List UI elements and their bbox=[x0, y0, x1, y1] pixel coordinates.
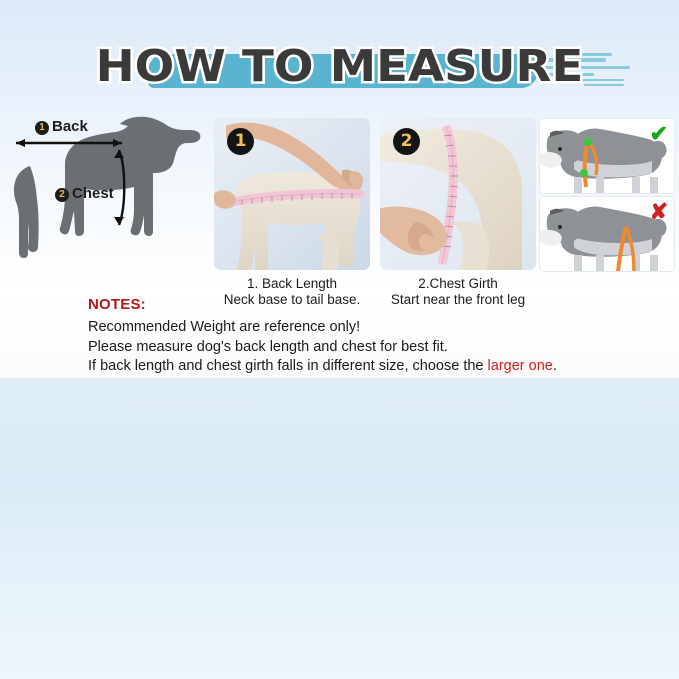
dog-silhouette-diagram: 1Back 2Chest bbox=[2, 112, 214, 272]
page-title: HOW TO MEASURE bbox=[0, 36, 679, 98]
back-label-text: Back bbox=[52, 118, 88, 135]
notes-line-1: Recommended Weight are reference only! bbox=[88, 318, 658, 338]
top-section: HOW TO MEASURE 1Back 2Chest bbox=[0, 0, 679, 378]
chest-number-badge: 2 bbox=[55, 188, 69, 202]
size-chart-section: Size XS S M L XL 2XL 3XL 4XL Back (in) 8… bbox=[0, 378, 679, 679]
panel-badge-1: 1 bbox=[227, 128, 254, 155]
chest-girth-photo: 2 bbox=[380, 118, 536, 270]
panel-badge-2: 2 bbox=[393, 128, 420, 155]
chest-girth-caption: 2.Chest Girth Start near the front leg bbox=[378, 276, 538, 308]
notes-line-2: Please measure dog's back length and che… bbox=[88, 338, 658, 358]
back-length-caption-line1: 1. Back Length bbox=[214, 276, 370, 292]
back-length-photo: 1 bbox=[214, 118, 370, 270]
notes-heading: NOTES: bbox=[88, 296, 146, 313]
back-length-caption: 1. Back Length Neck base to tail base. bbox=[214, 276, 370, 308]
check-icon: ✔ bbox=[650, 121, 668, 147]
back-label: 1Back bbox=[35, 118, 88, 135]
chest-label: 2Chest bbox=[55, 185, 114, 202]
cross-icon: ✘ bbox=[650, 199, 668, 225]
title-banner: HOW TO MEASURE bbox=[0, 36, 679, 98]
chest-girth-caption-line2: Start near the front leg bbox=[378, 292, 538, 308]
notes-line-3-highlight: larger one bbox=[488, 358, 553, 374]
back-length-caption-line2: Neck base to tail base. bbox=[214, 292, 370, 308]
back-number-badge: 1 bbox=[35, 121, 49, 135]
chest-label-text: Chest bbox=[72, 185, 114, 202]
notes-line-3-prefix: If back length and chest girth falls in … bbox=[88, 358, 488, 374]
correct-fit-photo: ✔ bbox=[539, 118, 675, 194]
notes-line-3-suffix: . bbox=[553, 358, 557, 374]
notes-line-3: If back length and chest girth falls in … bbox=[88, 357, 658, 377]
chest-girth-caption-line1: 2.Chest Girth bbox=[378, 276, 538, 292]
size-chart-page: HOW TO MEASURE 1Back 2Chest bbox=[0, 0, 679, 679]
notes-body: Recommended Weight are reference only! P… bbox=[88, 318, 658, 377]
incorrect-fit-photo: ✘ bbox=[539, 196, 675, 272]
